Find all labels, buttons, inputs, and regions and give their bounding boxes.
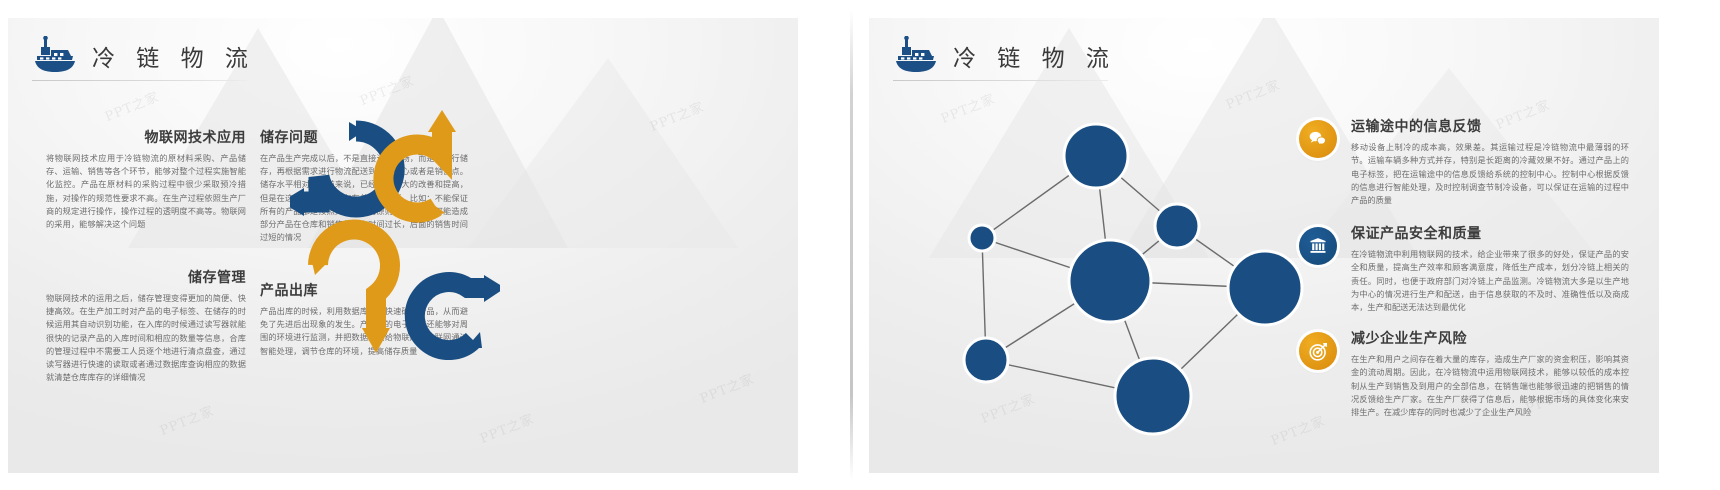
header-rule bbox=[32, 80, 247, 81]
header-rule bbox=[893, 80, 1108, 81]
bar-chart-glyph bbox=[1308, 236, 1328, 256]
watermark: PPT之家 bbox=[357, 70, 417, 109]
section-body: 在冷链物流中利用物联网的技术，给企业带来了很多的好处，保证产品的安全和质量，提高… bbox=[1351, 248, 1629, 314]
network-node bbox=[1064, 124, 1128, 188]
arrow-bottom-right bbox=[415, 275, 500, 350]
section-ensure-product-safety-quality: 保证产品安全和质量 在冷链物流中利用物联网的技术，给企业带来了很多的好处，保证产… bbox=[1299, 223, 1629, 314]
network-node bbox=[964, 338, 1008, 382]
block-heading: 物联网技术应用 bbox=[46, 130, 246, 147]
four-circular-arrows-diagram bbox=[290, 110, 500, 360]
network-nodes bbox=[964, 124, 1302, 434]
watermark: PPT之家 bbox=[647, 96, 707, 135]
section-body: 移动设备上制冷的成本高，效果差。其运输过程是冷链物流中最薄弱的环节。运输车辆多种… bbox=[1351, 141, 1629, 207]
chat-bubble-icon bbox=[1299, 120, 1337, 158]
network-node bbox=[1228, 251, 1302, 325]
watermark: PPT之家 bbox=[477, 408, 537, 447]
section-heading: 保证产品安全和质量 bbox=[1351, 223, 1629, 243]
arrow-bottom-left bbox=[311, 230, 390, 353]
section-text: 保证产品安全和质量 在冷链物流中利用物联网的技术，给企业带来了很多的好处，保证产… bbox=[1351, 223, 1629, 314]
chat-bubble-glyph bbox=[1308, 129, 1328, 149]
slide-left: PPT之家 PPT之家 PPT之家 PPT之家 PPT之家 PPT之家 bbox=[8, 18, 798, 473]
slide-right: PPT之家 PPT之家 PPT之家 PPT之家 PPT之家 PPT之家 冷 链 … bbox=[869, 18, 1659, 473]
arrow-top-right bbox=[383, 110, 456, 217]
cargo-ship-icon bbox=[893, 36, 939, 76]
watermark: PPT之家 bbox=[157, 400, 217, 439]
block-body: 物联网技术的运用之后，储存管理变得更加的简便、快捷高效。在生产加工时对产品的电子… bbox=[46, 292, 246, 385]
section-reduce-production-risk: 减少企业生产风险 在生产和用户之间存在着大量的库存，造成生产厂家的资金积压，影响… bbox=[1299, 328, 1629, 419]
network-node-diagram bbox=[925, 98, 1325, 448]
target-icon bbox=[1299, 332, 1337, 370]
section-heading: 运输途中的信息反馈 bbox=[1351, 116, 1629, 136]
watermark: PPT之家 bbox=[697, 368, 757, 407]
slide-title: 冷 链 物 流 bbox=[953, 39, 1116, 73]
section-text: 运输途中的信息反馈 移动设备上制冷的成本高，效果差。其运输过程是冷链物流中最薄弱… bbox=[1351, 116, 1629, 207]
network-node bbox=[1155, 204, 1199, 248]
block-body: 将物联网技术应用于冷链物流的原材料采购、产品储存、运输、销售等各个环节，能够对整… bbox=[46, 152, 246, 232]
cargo-ship-icon bbox=[32, 36, 78, 76]
section-heading: 减少企业生产风险 bbox=[1351, 328, 1629, 348]
bar-chart-icon bbox=[1299, 227, 1337, 265]
block-heading: 储存管理 bbox=[46, 270, 246, 287]
watermark: PPT之家 bbox=[102, 86, 162, 125]
section-body: 在生产和用户之间存在着大量的库存，造成生产厂家的资金积压，影响其资金的流动周期。… bbox=[1351, 353, 1629, 419]
slide-divider bbox=[850, 10, 853, 480]
network-node bbox=[1115, 358, 1191, 434]
two-slide-canvas: PPT之家 PPT之家 PPT之家 PPT之家 PPT之家 PPT之家 bbox=[0, 0, 1720, 490]
target-glyph bbox=[1308, 341, 1329, 362]
network-node bbox=[1069, 240, 1151, 322]
slide-left-header: 冷 链 物 流 bbox=[32, 36, 255, 76]
text-block-iot-technology-application: 物联网技术应用 将物联网技术应用于冷链物流的原材料采购、产品储存、运输、销售等各… bbox=[46, 130, 246, 231]
slide-right-header: 冷 链 物 流 bbox=[893, 36, 1116, 76]
text-block-storage-management: 储存管理 物联网技术的运用之后，储存管理变得更加的简便、快捷高效。在生产加工时对… bbox=[46, 270, 246, 385]
slide-title: 冷 链 物 流 bbox=[92, 39, 255, 73]
section-text: 减少企业生产风险 在生产和用户之间存在着大量的库存，造成生产厂家的资金积压，影响… bbox=[1351, 328, 1629, 419]
network-node bbox=[969, 225, 995, 251]
section-transport-info-feedback: 运输途中的信息反馈 移动设备上制冷的成本高，效果差。其运输过程是冷链物流中最薄弱… bbox=[1299, 116, 1629, 207]
